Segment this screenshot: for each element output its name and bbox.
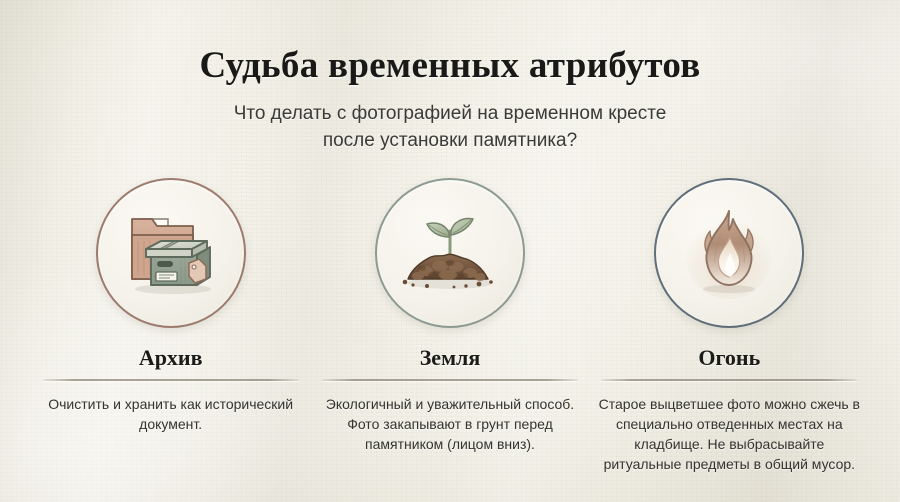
soil-mound-sprout-icon [394, 197, 506, 309]
fire-icon-circle [654, 178, 804, 328]
option-body-archive: Очистить и хранить как исторический доку… [40, 394, 302, 434]
slide-canvas: Судьба временных атрибутов Что делать с … [0, 0, 900, 502]
option-body-earth: Экологичный и уважительный способ. Фото … [319, 394, 581, 454]
header: Судьба временных атрибутов Что делать с … [0, 0, 900, 154]
earth-icon-circle [375, 178, 525, 328]
flame-icon [673, 197, 785, 309]
options-row: Архив Очистить и хранить как исторически… [0, 178, 900, 474]
page-subtitle: Что делать с фотографией на временном кр… [130, 100, 770, 154]
option-heading-fire: Огонь [698, 345, 760, 371]
option-card-earth: Земля Экологичный и уважительный способ.… [317, 178, 582, 454]
archive-icon-circle [96, 178, 246, 328]
option-heading-archive: Архив [139, 345, 203, 371]
divider-earth [322, 379, 578, 381]
option-card-fire: Огонь Старое выцветшее фото можно сжечь … [597, 178, 862, 474]
page-title: Судьба временных атрибутов [0, 44, 900, 88]
option-body-fire: Старое выцветшее фото можно сжечь в спец… [598, 394, 860, 474]
subtitle-line-1: Что делать с фотографией на временном кр… [130, 100, 770, 127]
subtitle-line-2: после установки памятника? [130, 127, 770, 154]
divider-archive [43, 379, 299, 381]
archive-box-folder-icon [115, 197, 227, 309]
option-card-archive: Архив Очистить и хранить как исторически… [38, 178, 303, 434]
divider-fire [601, 379, 857, 381]
option-heading-earth: Земля [420, 345, 481, 371]
